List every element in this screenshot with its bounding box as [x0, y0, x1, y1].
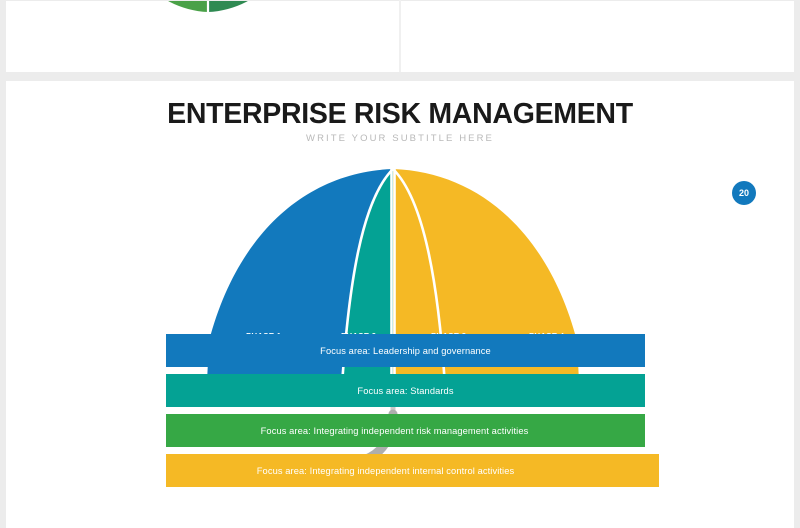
donut-segment-green [121, 0, 208, 12]
focus-bar-internal-control-activities[interactable]: Focus area: Integrating independent inte… [166, 454, 659, 487]
focus-bar-risk-management-activities[interactable]: Focus area: Integrating independent risk… [166, 414, 645, 447]
page-subtitle: WRITE YOUR SUBTITLE HERE [6, 133, 794, 144]
thumbnail-risk-workflow-donut[interactable]: RISK MANAGEMENT WORKFLOW HAZARD ANALYSIS… [114, 0, 302, 16]
focus-bar-standards[interactable]: Focus area: Standards [166, 374, 645, 407]
focus-area-bars: Focus area: Leadership and governance Fo… [6, 334, 794, 528]
donut-separators [124, 0, 292, 12]
focus-bar-4-label: Focus area: Integrating independent inte… [257, 466, 514, 476]
strip-separator [6, 0, 800, 1]
focus-bar-2-label: Focus area: Standards [357, 386, 453, 396]
main-slide[interactable]: ENTERPRISE RISK MANAGEMENT WRITE YOUR SU… [6, 81, 794, 528]
screenshot-root: RISK MANAGEMENT WORKFLOW HAZARD ANALYSIS… [0, 0, 800, 528]
page-title: ENTERPRISE RISK MANAGEMENT [6, 98, 794, 131]
thumbnail-vertical-divider [399, 0, 401, 72]
focus-bar-3-label: Focus area: Integrating independent risk… [261, 426, 529, 436]
donut-chart-svg [114, 0, 302, 16]
donut-segment-darkgreen [208, 0, 295, 12]
focus-bar-leadership-governance[interactable]: Focus area: Leadership and governance [166, 334, 645, 367]
focus-bar-1-label: Focus area: Leadership and governance [320, 346, 491, 356]
